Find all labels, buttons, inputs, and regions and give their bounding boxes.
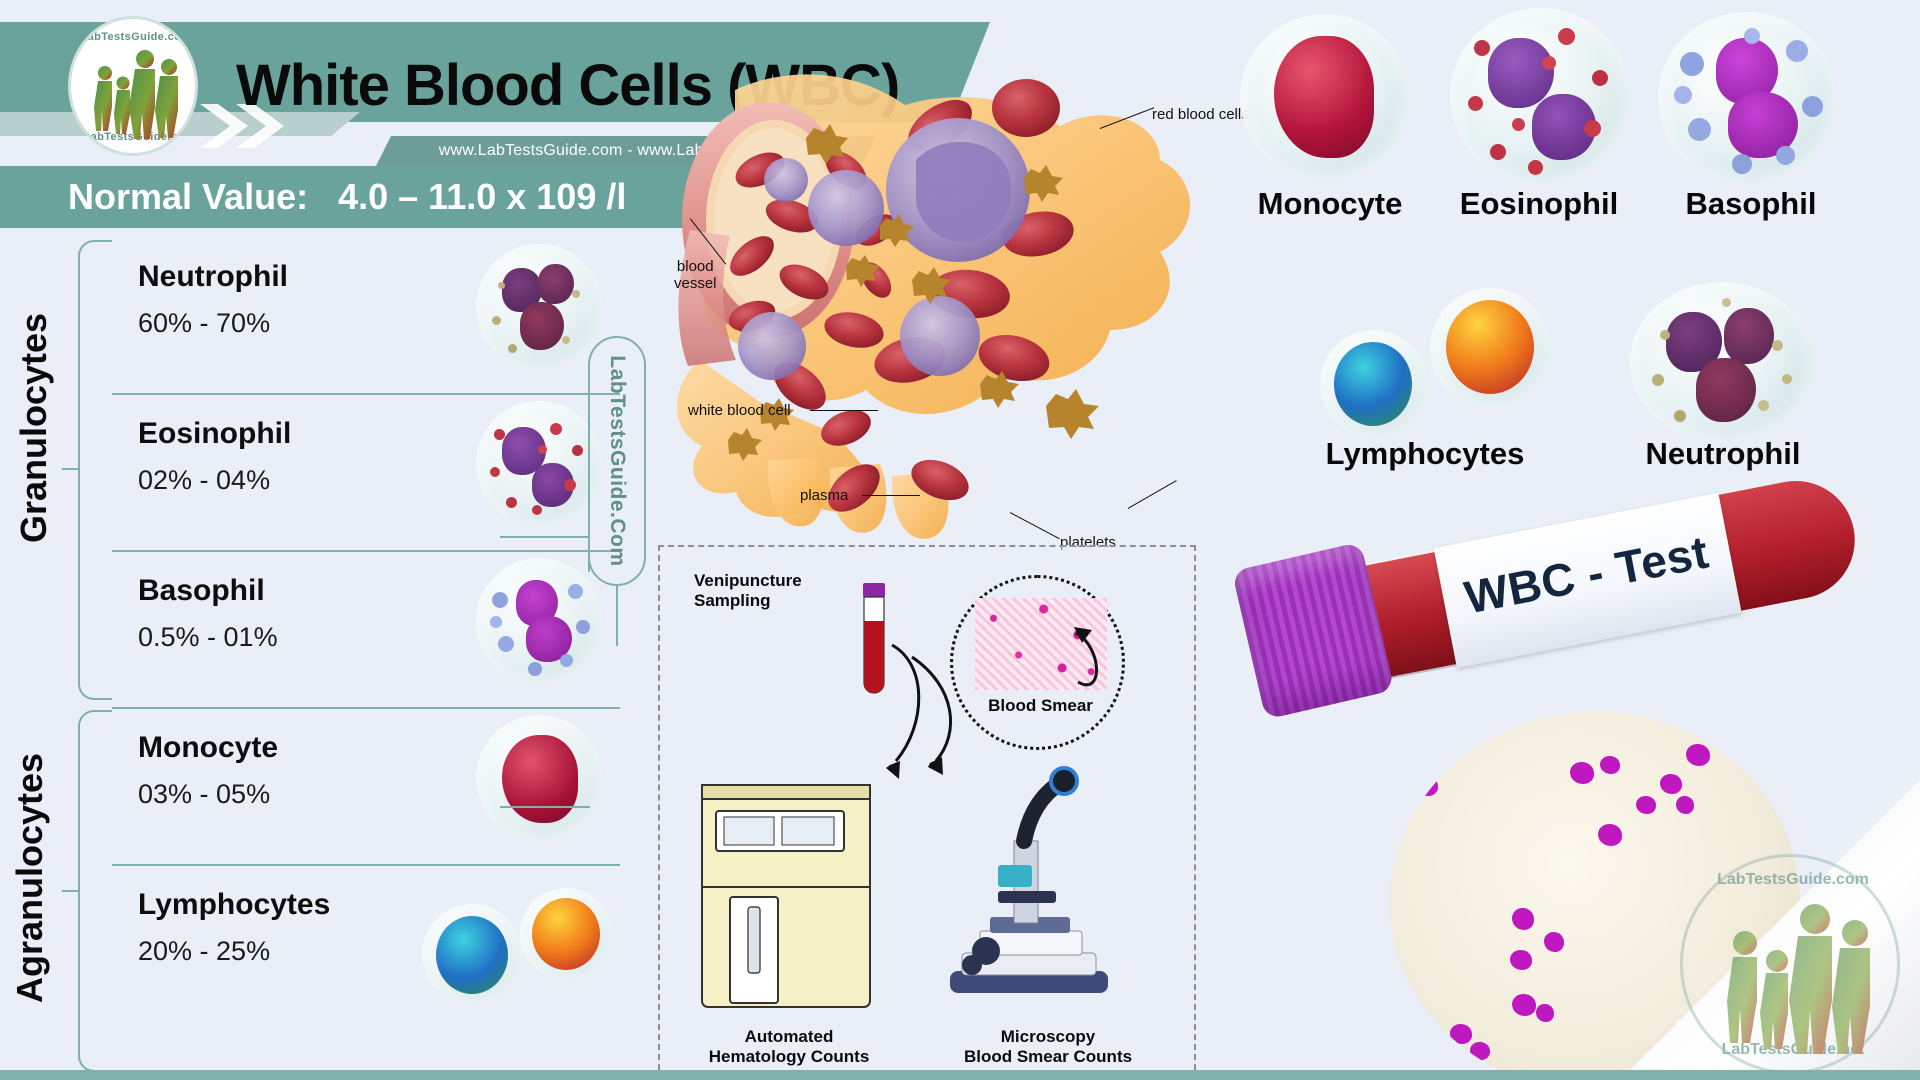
cell-name: Neutrophil [138, 260, 288, 294]
hematology-analyzer-image [696, 775, 886, 1015]
cell-range: 03% - 05% [138, 779, 270, 810]
blood-smear-label: Blood Smear [953, 696, 1128, 716]
watermark-connector-mid [500, 536, 590, 538]
label-plasma: plasma [800, 487, 848, 504]
workflow-panel: Venipuncture Sampling Blood Smear [658, 545, 1196, 1080]
labtestsguide-logo: LabTestsGuide.com LabTestsGuide.net [68, 16, 198, 156]
granulocytes-bracket-tick [62, 468, 80, 470]
corner-family-figures-icon [1683, 857, 1903, 1077]
blood-collection-tube [858, 583, 886, 699]
wbc-test-tube: WBC - Test [1231, 431, 1899, 759]
cell-name: Monocyte [138, 731, 278, 765]
gallery-label-basophil: Basophil [1656, 186, 1846, 222]
neutrophil-gallery-image [1630, 282, 1820, 442]
venipuncture-label: Venipuncture Sampling [694, 571, 884, 611]
venipuncture-label-line1: Venipuncture [694, 571, 802, 590]
automated-counts-line2: Hematology Counts [709, 1047, 870, 1066]
blood-smear-inset: Blood Smear [950, 575, 1125, 750]
differential-panel: Granulocytes Agranulocytes Neutrophil 60… [0, 232, 620, 1080]
leader-white-blood-cell [810, 410, 878, 411]
gallery-label-monocyte: Monocyte [1240, 186, 1420, 222]
table-row[interactable]: Basophil 0.5% - 01% [112, 552, 620, 709]
table-row[interactable]: Lymphocytes 20% - 25% [112, 866, 620, 1023]
cell-range: 0.5% - 01% [138, 622, 278, 653]
cell-name: Eosinophil [138, 417, 291, 451]
granulocytes-bracket [78, 240, 112, 700]
normal-value-range: 4.0 – 11.0 x 109 /l [338, 176, 626, 217]
granulocytes-group-label: Granulocytes [13, 343, 55, 543]
gallery-label-eosinophil: Eosinophil [1444, 186, 1634, 222]
watermark-pill: LabTestsGuide.Com [588, 336, 646, 586]
family-figures-icon [71, 19, 198, 156]
label-red-blood-cells: red blood cells [1152, 106, 1249, 123]
cell-name: Lymphocytes [138, 888, 330, 922]
automated-counts-label: Automated Hematology Counts [664, 1027, 914, 1067]
automated-counts-line1: Automated [745, 1027, 834, 1046]
label-blood-vessel: blood vessel [674, 258, 717, 293]
infographic-canvas: White Blood Cells (WBC) www.LabTestsGuid… [0, 0, 1920, 1080]
cell-range: 02% - 04% [138, 465, 270, 496]
table-row[interactable]: Monocyte 03% - 05% [112, 709, 620, 866]
leader-plasma [862, 495, 920, 496]
basophil-cell-image [476, 558, 602, 684]
neutrophil-cell-image [476, 244, 602, 370]
differential-rows: Neutrophil 60% - 70% [112, 238, 620, 1023]
lymphocytes-cell-image [422, 888, 612, 998]
normal-value-text: Normal Value: 4.0 – 11.0 x 109 /l [68, 176, 626, 220]
watermark-stem-bottom [616, 586, 618, 646]
cell-range: 20% - 25% [138, 936, 270, 967]
cell-name: Basophil [138, 574, 265, 608]
monocyte-cell-image [476, 715, 602, 841]
microscopy-counts-label: Microscopy Blood Smear Counts [908, 1027, 1188, 1067]
agranulocytes-bracket [78, 710, 112, 1072]
watermark-connector-bottom [500, 806, 590, 808]
table-row[interactable]: Eosinophil 02% - 04% [112, 395, 620, 552]
eosinophil-gallery-image [1450, 8, 1640, 184]
label-blood-vessel-line2: vessel [674, 275, 717, 292]
microscopy-counts-line1: Microscopy [1001, 1027, 1095, 1046]
blood-smear-image [975, 598, 1107, 690]
basophil-gallery-image [1658, 12, 1848, 184]
eosinophil-cell-image [476, 401, 602, 527]
normal-value-label: Normal Value: [68, 176, 308, 217]
cell-range: 60% - 70% [138, 308, 270, 339]
microscopy-counts-line2: Blood Smear Counts [964, 1047, 1132, 1066]
lymphocytes-gallery-image [1320, 288, 1570, 438]
label-blood-vessel-line1: blood [677, 258, 714, 275]
agranulocytes-bracket-tick [62, 890, 80, 892]
label-white-blood-cell: white blood cell [688, 402, 791, 419]
table-row[interactable]: Neutrophil 60% - 70% [112, 238, 620, 395]
watermark-text: LabTestsGuide.Com [605, 336, 629, 586]
agranulocytes-group-label: Agranulocytes [9, 803, 51, 1003]
monocyte-gallery-image [1240, 14, 1420, 184]
gallery-label-lymphocytes: Lymphocytes [1300, 436, 1550, 472]
venipuncture-label-line2: Sampling [694, 591, 771, 610]
microscope-image [928, 745, 1128, 1015]
bottom-accent-strip [0, 1070, 1920, 1080]
corner-labtestsguide-logo: LabTestsGuide.com LabTestsGuide.net [1680, 854, 1900, 1074]
